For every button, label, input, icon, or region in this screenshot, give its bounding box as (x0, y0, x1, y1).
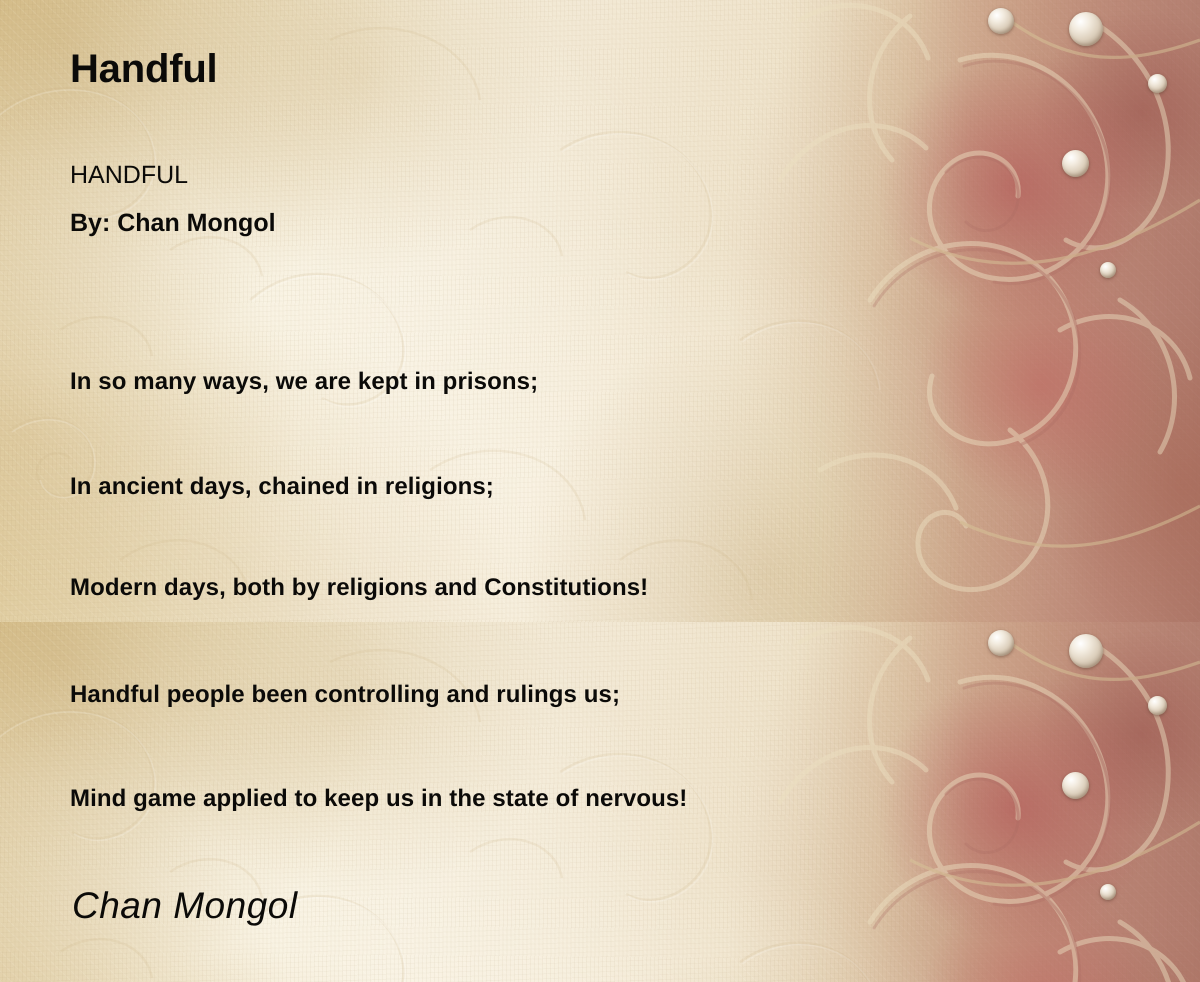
author-signature: Chan Mongol (72, 885, 298, 927)
poem-line: Handful people been controlling and ruli… (70, 681, 620, 709)
poem-line: Modern days, both by religions and Const… (70, 574, 648, 602)
poem-line: Mind game applied to keep us in the stat… (70, 785, 687, 813)
poem-title: Handful (70, 47, 217, 92)
poem-image-card: Handful HANDFUL By: Chan Mongol In so ma… (0, 0, 1200, 982)
poem-heading: HANDFUL (70, 161, 188, 190)
poem-line: In ancient days, chained in religions; (70, 473, 494, 501)
poem-text-layer: Handful HANDFUL By: Chan Mongol In so ma… (0, 0, 1200, 982)
poem-byline: By: Chan Mongol (70, 209, 276, 238)
poem-line: In so many ways, we are kept in prisons; (70, 368, 538, 396)
